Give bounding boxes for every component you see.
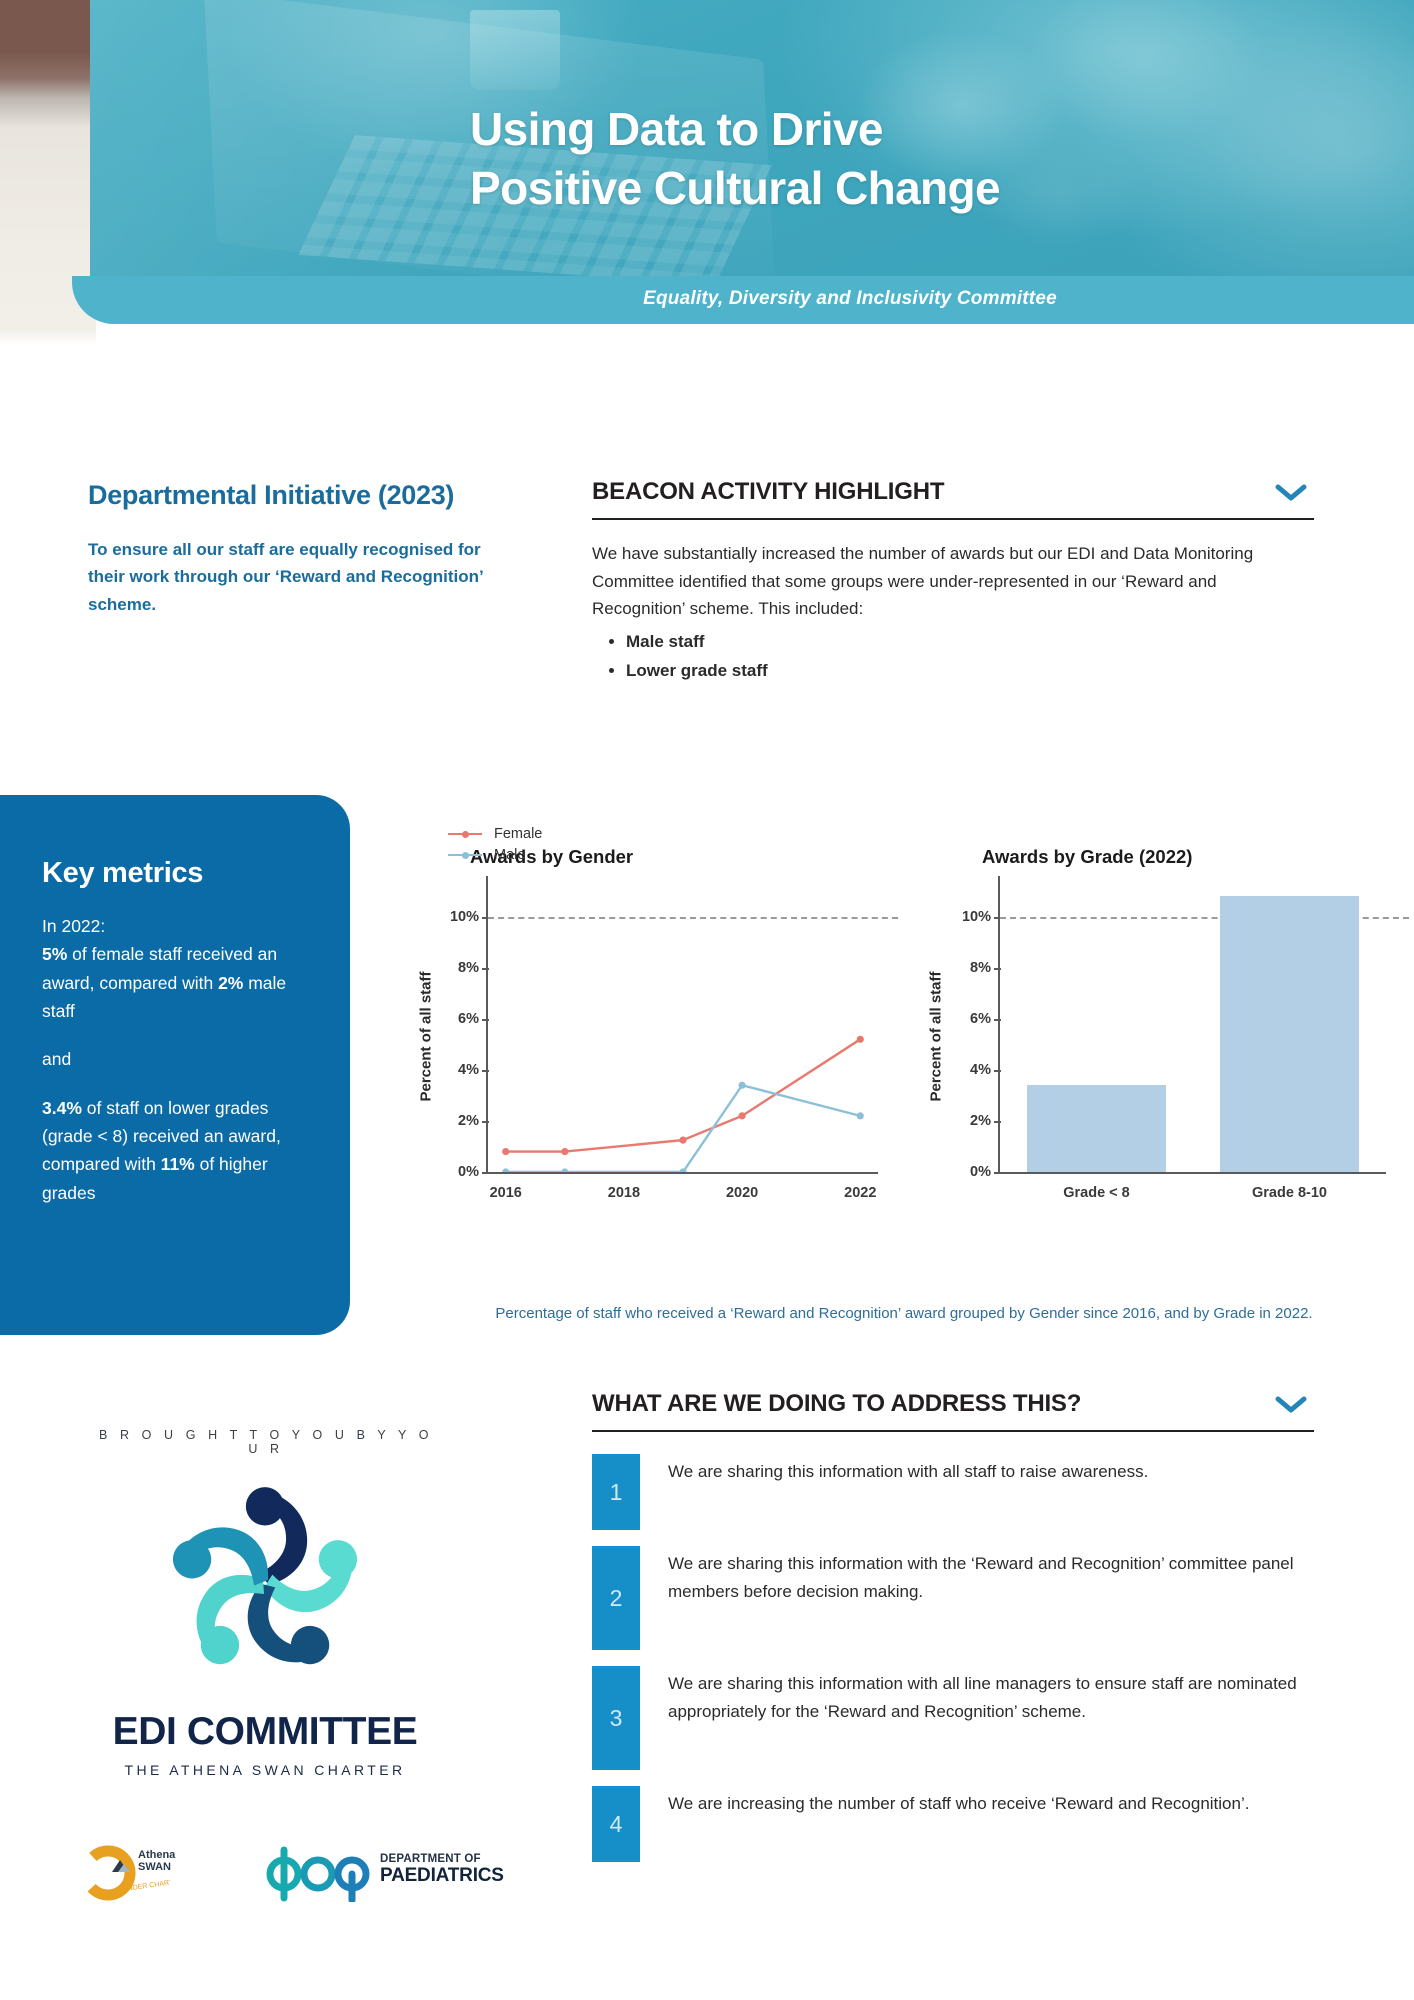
- brought-to-you-by-label: B R O U G H T T O Y O U B Y Y O U R: [96, 1428, 436, 1456]
- list-item: 4 We are increasing the number of staff …: [592, 1786, 1314, 1862]
- chart-y-tick: 2%: [458, 1113, 479, 1129]
- edi-committee-name: EDI COMMITTEE: [40, 1710, 490, 1754]
- action-text: We are sharing this information with all…: [640, 1666, 1314, 1770]
- chart-legend-swatch: [448, 854, 482, 856]
- edi-committee-logo-icon: [150, 1468, 380, 1698]
- action-number-badge: 4: [592, 1786, 640, 1862]
- initiative-body: To ensure all our staff are equally reco…: [88, 536, 508, 619]
- header-subtitle: Equality, Diversity and Inclusivity Comm…: [400, 288, 1300, 310]
- chart-y-tick: 4%: [458, 1062, 479, 1078]
- chart-legend: FemaleMale: [448, 826, 542, 868]
- actions-list: 1 We are sharing this information with a…: [592, 1454, 1314, 1862]
- chart-y-tick: 2%: [970, 1113, 991, 1129]
- list-item: Male staff: [626, 627, 1314, 656]
- initiative-heading: Departmental Initiative (2023): [88, 478, 508, 514]
- key-metrics-intro: In 2022:: [42, 916, 105, 936]
- key-metrics-conjunction-wrap: and: [42, 1045, 304, 1073]
- actions-heading: WHAT ARE WE DOING TO ADDRESS THIS?: [592, 1390, 1081, 1418]
- chart-x-tick: 2020: [726, 1185, 758, 1201]
- chevron-down-icon[interactable]: [1274, 1394, 1308, 1414]
- chart-x-tick: 2018: [608, 1185, 640, 1201]
- department-of-paediatrics-wordmark: DEPARTMENT OF PAEDIATRICS: [380, 1854, 504, 1885]
- chart-x-tick: 2016: [490, 1185, 522, 1201]
- chart-legend-item: Male: [448, 847, 542, 863]
- action-number-badge: 2: [592, 1546, 640, 1650]
- chart-awards-by-grade: Awards by Grade (2022) Percent of all st…: [902, 818, 1400, 1288]
- list-item: 2 We are sharing this information with t…: [592, 1546, 1314, 1650]
- athena-swan-wordmark: Athena SWAN: [138, 1850, 175, 1874]
- chart-plot-area: 0%2%4%6%8%10%Grade < 8Grade 8-10: [998, 876, 1386, 1174]
- stat-highgrade-value: 11%: [161, 1154, 195, 1174]
- chart-y-tick: 8%: [970, 960, 991, 976]
- key-metrics-body: In 2022: 5% of female staff received an …: [42, 912, 304, 1025]
- chart-y-axis-label: Percent of all staff: [928, 947, 945, 1127]
- department-of-paediatrics-logo-icon: [260, 1846, 380, 1902]
- chart-y-tick: 0%: [458, 1164, 479, 1180]
- list-item: 1 We are sharing this information with a…: [592, 1454, 1314, 1530]
- chart-legend-item: Female: [448, 826, 542, 842]
- chart-bar: [1027, 1085, 1166, 1172]
- key-metrics-body-2: 3.4% of staff on lower grades (grade < 8…: [42, 1094, 304, 1207]
- chart-plot-area: 0%2%4%6%8%10%2016201820202022: [486, 876, 878, 1174]
- chart-caption: Percentage of staff who received a ‘Rewa…: [404, 1305, 1404, 1322]
- beacon-section-header[interactable]: BEACON ACTIVITY HIGHLIGHT: [592, 478, 1314, 520]
- beacon-body: We have substantially increased the numb…: [592, 540, 1314, 685]
- chart-x-tick: Grade 8-10: [1252, 1185, 1327, 1201]
- action-number-badge: 3: [592, 1666, 640, 1770]
- beacon-bullet-list: Male staff Lower grade staff: [626, 627, 1314, 685]
- chart-legend-label: Female: [494, 826, 542, 842]
- actions-section: WHAT ARE WE DOING TO ADDRESS THIS? 1 We …: [592, 1390, 1314, 1878]
- departmental-initiative-block: Departmental Initiative (2023) To ensure…: [88, 478, 508, 618]
- page-title: Using Data to Drive Positive Cultural Ch…: [470, 100, 1090, 218]
- chart-x-tick: Grade < 8: [1063, 1185, 1130, 1201]
- page-title-line1: Using Data to Drive: [470, 100, 1090, 159]
- beacon-heading: BEACON ACTIVITY HIGHLIGHT: [592, 478, 944, 506]
- poster-page: Using Data to Drive Positive Cultural Ch…: [0, 0, 1414, 2000]
- chart-y-tick: 0%: [970, 1164, 991, 1180]
- beacon-paragraph: We have substantially increased the numb…: [592, 540, 1314, 623]
- charts-container: Awards by Gender Percent of all staff 0%…: [396, 818, 1400, 1288]
- chart-y-tick: 6%: [458, 1011, 479, 1027]
- chart-y-tick: 6%: [970, 1011, 991, 1027]
- chart-legend-swatch: [448, 833, 482, 835]
- action-text: We are increasing the number of staff wh…: [640, 1786, 1249, 1862]
- cup-shape: [470, 10, 560, 90]
- dop-line1: DEPARTMENT OF: [380, 1854, 504, 1866]
- athena-swan-logo-icon: GENDER CHARTER Athena SWAN: [78, 1842, 170, 1904]
- chart-title: Awards by Grade (2022): [982, 846, 1192, 868]
- chart-series-group: [488, 876, 878, 1172]
- stat-lowgrade-value: 3.4%: [42, 1098, 82, 1118]
- key-metrics-conjunction: and: [42, 1049, 71, 1069]
- key-metrics-panel: Key metrics In 2022: 5% of female staff …: [0, 795, 350, 1335]
- dop-line2: PAEDIATRICS: [380, 1866, 504, 1885]
- chart-y-tick: 8%: [458, 960, 479, 976]
- athena-swan-charter-label: THE ATHENA SWAN CHARTER: [40, 1762, 490, 1778]
- chart-bar: [1220, 896, 1359, 1172]
- chevron-down-icon[interactable]: [1274, 482, 1308, 502]
- chart-y-axis-label: Percent of all staff: [418, 947, 435, 1127]
- athena-line2: SWAN: [138, 1862, 175, 1874]
- beacon-activity-section: BEACON ACTIVITY HIGHLIGHT We have substa…: [592, 478, 1314, 685]
- page-title-line2: Positive Cultural Change: [470, 159, 1090, 218]
- action-text: We are sharing this information with all…: [640, 1454, 1148, 1530]
- action-text: We are sharing this information with the…: [640, 1546, 1314, 1650]
- chart-y-tick: 10%: [962, 909, 991, 925]
- key-metrics-heading: Key metrics: [42, 857, 304, 890]
- chart-awards-by-gender: Awards by Gender Percent of all staff 0%…: [396, 818, 896, 1288]
- stat-female-value: 5%: [42, 944, 67, 964]
- footer-partner-logos: GENDER CHARTER Athena SWAN DEPARTMENT OF…: [60, 1840, 480, 1910]
- list-item: 3 We are sharing this information with a…: [592, 1666, 1314, 1770]
- actions-section-header[interactable]: WHAT ARE WE DOING TO ADDRESS THIS?: [592, 1390, 1314, 1432]
- chart-x-tick: 2022: [844, 1185, 876, 1201]
- chart-y-tick: 4%: [970, 1062, 991, 1078]
- action-number-badge: 1: [592, 1454, 640, 1530]
- chart-y-tick: 10%: [450, 909, 479, 925]
- list-item: Lower grade staff: [626, 656, 1314, 685]
- chart-legend-label: Male: [494, 847, 525, 863]
- stat-male-value: 2%: [218, 973, 243, 993]
